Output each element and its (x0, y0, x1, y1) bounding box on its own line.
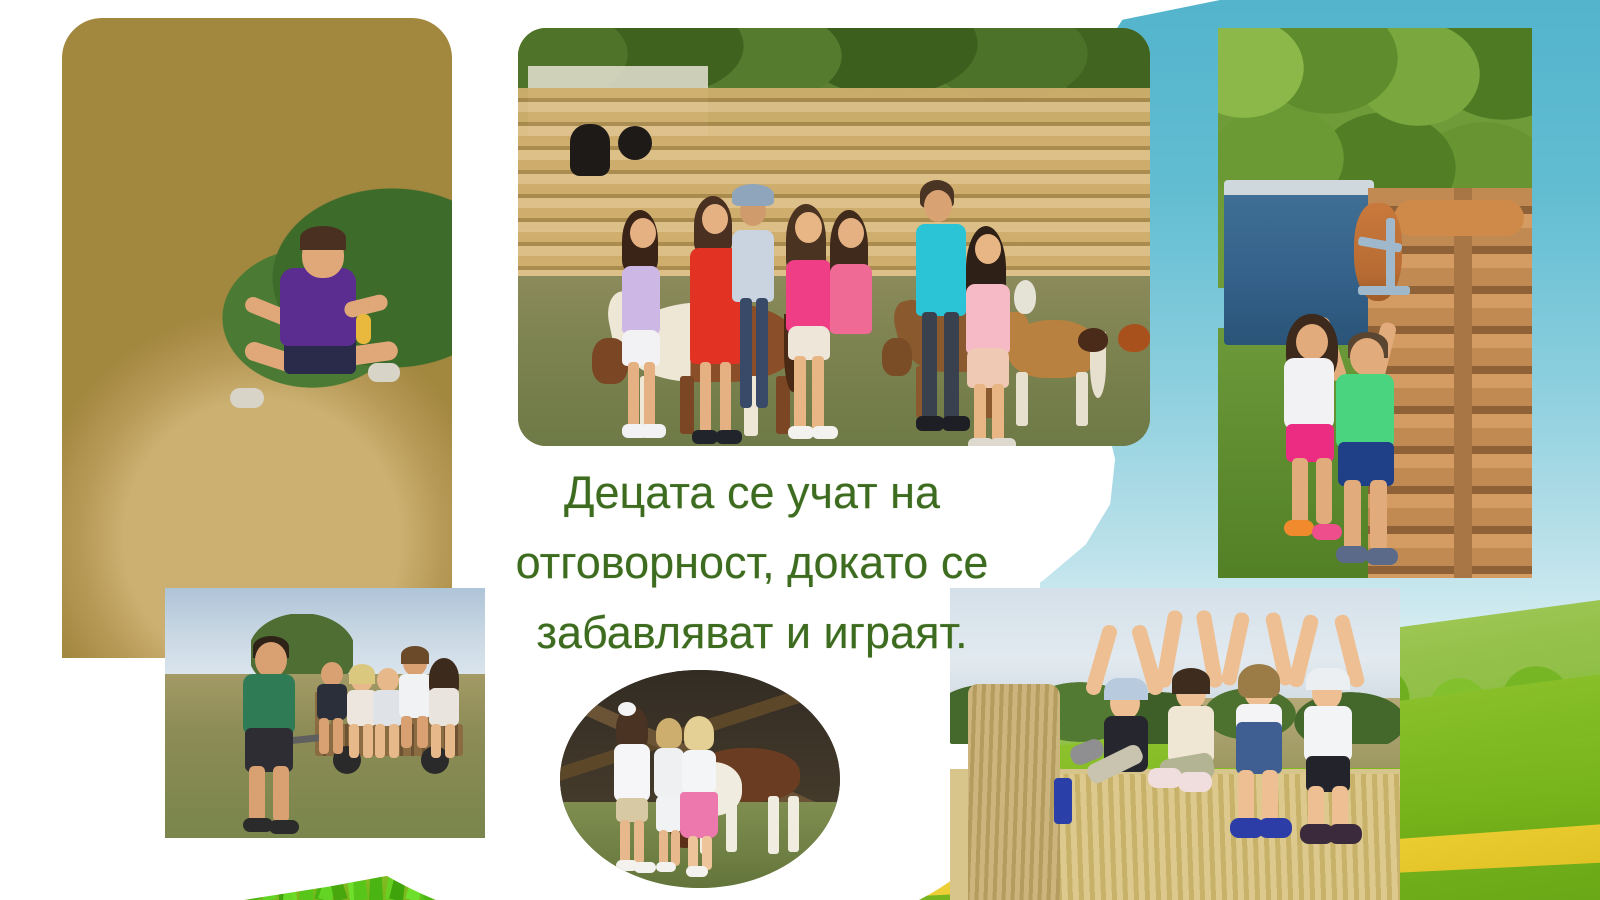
boy-shoe-right (1366, 548, 1398, 565)
girl-shoe (656, 862, 676, 872)
girl-leg-right (1316, 458, 1332, 524)
child-leg (628, 362, 639, 428)
girl-head (1296, 324, 1328, 360)
girl-top (614, 744, 650, 802)
child-leg (944, 312, 959, 420)
girl-leg (671, 830, 680, 866)
riding-helmet (618, 126, 652, 160)
girl-tshirt (1284, 358, 1334, 430)
girl-shoe (686, 866, 708, 877)
girl-shorts (616, 798, 648, 822)
child-top (1304, 706, 1352, 762)
rider-leg (349, 724, 359, 758)
child-sandal (788, 426, 814, 439)
girl-sandal-left (1284, 520, 1314, 536)
rider-leg (401, 716, 412, 748)
child-shoe (1148, 768, 1182, 788)
child-sandal (1258, 818, 1292, 838)
child-shoe (916, 416, 944, 431)
goose (1014, 280, 1036, 314)
child-leg (700, 362, 711, 434)
pony-leg (680, 376, 694, 434)
slide-canvas: Децата се учат на отговорност, докато се… (0, 0, 1600, 900)
boy-leg-right (1370, 480, 1387, 550)
child-top (966, 284, 1010, 354)
boy-shoe-left (1336, 546, 1368, 563)
child-head (924, 190, 952, 222)
child-leg (1262, 770, 1278, 824)
photo-boy-on-hay-bale[interactable] (62, 18, 452, 658)
child-sandal (812, 426, 838, 439)
child-shoe (990, 438, 1016, 446)
photo-children-petting-horse[interactable] (1218, 28, 1532, 578)
child-leg (756, 298, 768, 408)
child-top (830, 264, 872, 334)
child-shorts (788, 326, 830, 360)
corn-cob (356, 314, 371, 344)
girl-top (654, 748, 684, 798)
child-cap-hat (732, 184, 774, 206)
pony-leg (788, 796, 799, 852)
child-head (702, 204, 728, 234)
girl-leg (659, 830, 668, 866)
rider-leg (431, 724, 441, 758)
boy-shoe-left (230, 388, 264, 408)
child-leg (644, 362, 655, 428)
horse-lead (1358, 286, 1410, 295)
child-leg (1238, 770, 1254, 824)
child-hair (1172, 668, 1210, 694)
girl-leg (620, 820, 630, 864)
child-shoe (692, 430, 718, 444)
pony-leg (726, 798, 737, 852)
child-shoe (1328, 824, 1362, 844)
child-shorts (967, 348, 1009, 388)
photo-children-with-ponies[interactable] (518, 28, 1150, 446)
rider-leg (363, 724, 373, 758)
child-top (622, 266, 660, 334)
fence-post (1454, 188, 1472, 578)
child-leg (812, 356, 824, 430)
boy-tshirt (1336, 374, 1394, 450)
slide-caption: Децата се учат на отговорност, докато се… (452, 458, 1052, 668)
girl-hair (656, 718, 682, 748)
rider-head (377, 668, 399, 692)
pony-leg (1076, 372, 1088, 426)
child-shoe (640, 424, 666, 438)
pony-leg (768, 796, 779, 854)
rider-head (321, 662, 343, 686)
hay-bale-tall (968, 684, 1060, 900)
boy-hair (300, 226, 346, 250)
child-shoe (942, 416, 970, 431)
child-overalls (1236, 722, 1282, 774)
rider-leg (375, 724, 385, 758)
rider-leg (389, 724, 399, 758)
pony-head (882, 338, 912, 376)
child-top (732, 230, 774, 302)
rider-top (399, 674, 431, 718)
girl-shoe (634, 862, 656, 873)
child-leg (922, 312, 937, 420)
pony-leg (1016, 372, 1028, 426)
child-shoe (1178, 772, 1212, 792)
boy-shoe-right (368, 363, 400, 382)
horse-halter-strap (1386, 218, 1395, 288)
boy-green-tshirt (243, 674, 295, 736)
child-head (795, 212, 822, 243)
girl-leg (688, 836, 698, 870)
boy-head (1350, 338, 1384, 376)
girl-pink-skirt (680, 792, 718, 838)
girl-leg-left (1292, 458, 1308, 524)
girl-leg (702, 836, 712, 870)
rider-leg (333, 718, 343, 754)
girl-leg (634, 820, 644, 864)
girl-skirt (656, 796, 682, 832)
girl-hair (684, 716, 714, 750)
child-white-cap (1306, 668, 1350, 690)
rider-top (429, 688, 459, 726)
boy-leg-right (273, 766, 289, 822)
boy-leg-left (249, 766, 265, 822)
rider-leg (417, 716, 428, 748)
boy-sandal-right (269, 820, 299, 834)
saddle (570, 124, 610, 176)
child-shoe (716, 430, 742, 444)
child-blue-cap (1104, 678, 1148, 700)
child-leg (740, 298, 752, 408)
chicken (1078, 328, 1108, 352)
rider-top (317, 684, 347, 720)
rider-hair (349, 664, 375, 684)
child-leg (794, 356, 806, 430)
child-hair (1238, 664, 1280, 698)
photo-boy-pulling-cart[interactable] (165, 588, 485, 838)
boy-leg-left (1344, 480, 1361, 550)
rooster (1118, 324, 1150, 352)
girl-sandal-right (1312, 524, 1342, 540)
child-head (975, 234, 1001, 264)
photo-girls-with-pony[interactable] (560, 670, 840, 888)
child-shorts (622, 330, 660, 366)
child-top (916, 224, 966, 316)
child-head (838, 218, 864, 248)
water-bottle (1054, 778, 1072, 824)
child-leg (974, 384, 986, 442)
rider-leg (319, 718, 329, 754)
rider-hair (401, 646, 429, 664)
girl-shorts (1286, 424, 1334, 462)
child-leg (720, 362, 731, 434)
horse-neck (1394, 200, 1524, 236)
child-top (786, 260, 832, 332)
child-leg (992, 384, 1004, 442)
girl-top (682, 750, 716, 794)
boy-head (255, 642, 287, 678)
child-head (630, 218, 656, 248)
rider-leg (445, 724, 455, 758)
hair-bow (618, 702, 636, 716)
